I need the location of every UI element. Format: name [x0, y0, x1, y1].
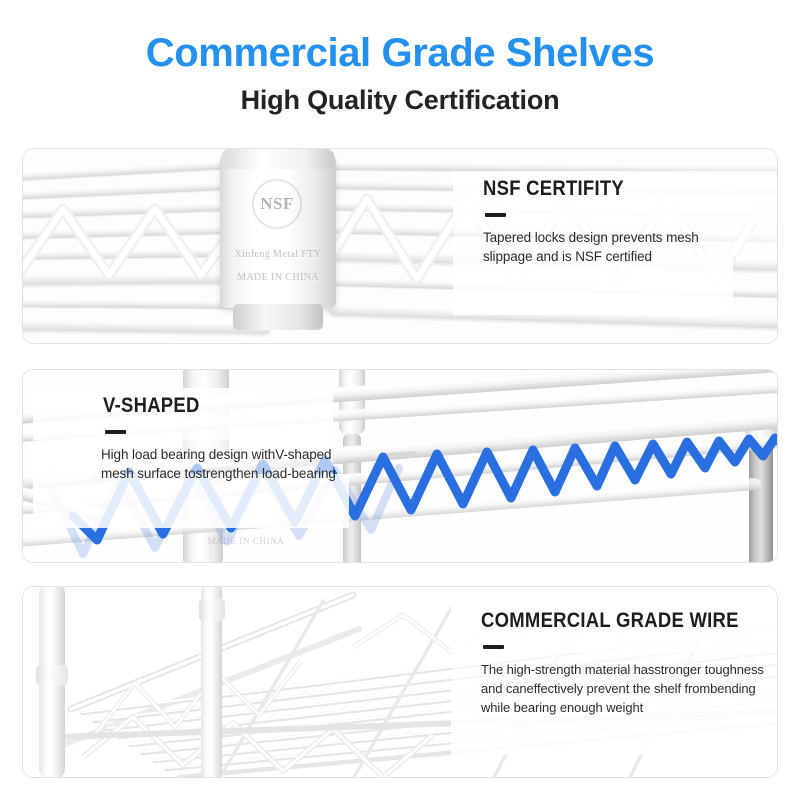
page-subtitle: High Quality Certification	[0, 76, 800, 116]
emboss-text-origin: MADE IN CHINA	[220, 272, 336, 283]
emboss-text-brand: Xinfeng Metal FTY	[220, 249, 336, 260]
body-line: slippage and is NSF certified	[483, 247, 699, 266]
body-line: and caneffectively prevent the shelf fro…	[481, 679, 774, 698]
panel-body-v-shaped: High load bearing design withV-shaped me…	[101, 445, 336, 483]
page-title: Commercial Grade Shelves	[0, 0, 800, 76]
heading-rule	[483, 645, 504, 649]
feature-panel-commercial-grade-wire: COMMERCIAL GRADE WIRE The high-strength …	[22, 586, 778, 778]
panel-heading-commercial-grade-wire: COMMERCIAL GRADE WIRE	[481, 609, 739, 633]
lock-sleeve-foot	[233, 304, 323, 330]
panel-body-commercial-grade-wire: The high-strength material hasstronger t…	[481, 660, 774, 717]
infographic-page: Commercial Grade Shelves High Quality Ce…	[0, 0, 800, 800]
lock-sleeve-body	[220, 153, 336, 308]
heading-rule	[105, 430, 126, 434]
body-line: High load bearing design withV-shaped	[101, 445, 336, 464]
nsf-logo-icon: NSF	[252, 179, 302, 229]
panel-heading-nsf: NSF CERTIFITY	[483, 177, 673, 201]
body-line: The high-strength material hasstronger t…	[481, 660, 774, 679]
body-line: mesh surface tostrengthen load-bearing	[101, 464, 336, 483]
body-line: Tapered locks design prevents mesh	[483, 228, 699, 247]
header: Commercial Grade Shelves High Quality Ce…	[0, 0, 800, 116]
lock-sleeve-cap	[222, 149, 334, 169]
panel-heading-v-shaped: V-SHAPED	[103, 394, 308, 418]
heading-rule	[485, 213, 506, 217]
feature-panel-v-shaped: MADE IN CHINA V-SHAPED High load bearing…	[22, 369, 778, 563]
panel-body-nsf: Tapered locks design prevents mesh slipp…	[483, 228, 699, 266]
body-line: while bearing enough weight	[481, 698, 774, 717]
feature-panel-nsf-certifity: NSF Xinfeng Metal FTY MADE IN CHINA NSF …	[22, 148, 778, 344]
